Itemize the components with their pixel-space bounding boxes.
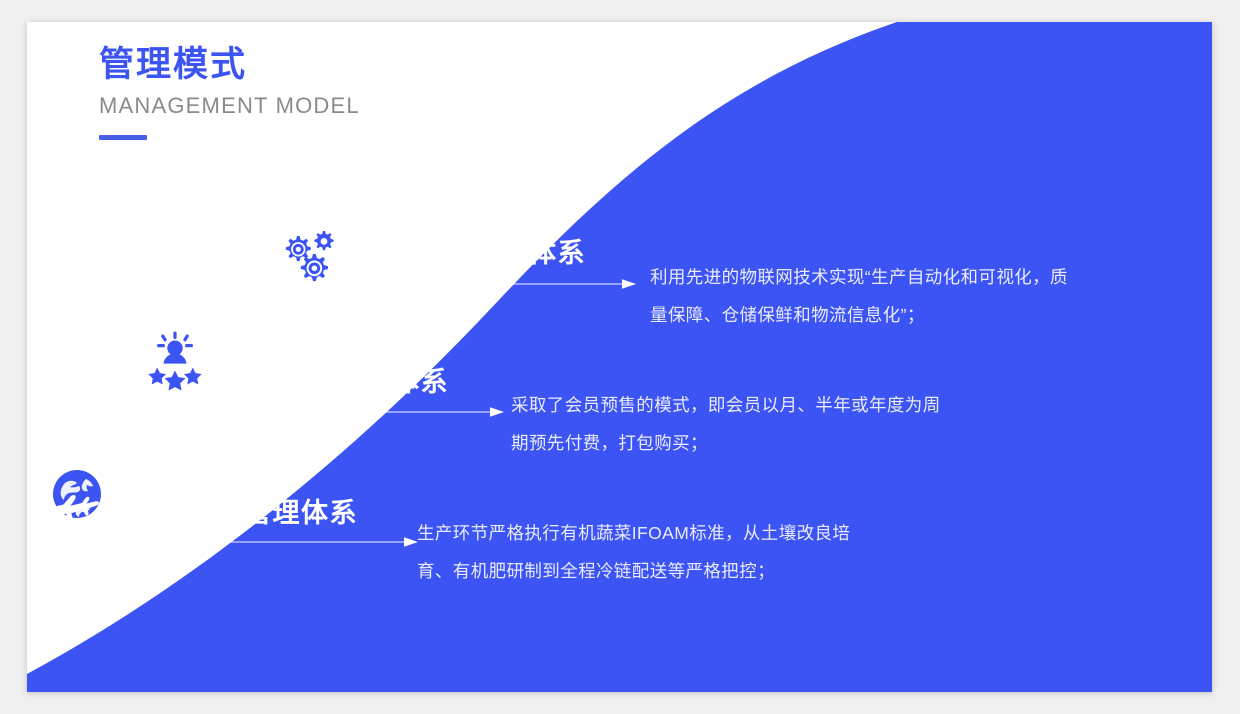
title-accent-bar xyxy=(99,135,147,140)
row-body-line: 量保障、仓储保鲜和物流信息化”； xyxy=(650,296,1068,334)
arrow-icon xyxy=(193,406,505,418)
gears-icon xyxy=(280,223,342,285)
row-body-text: 采取了会员预售的模式，即会员以月、半年或年度为周 期预先付费，打包购买； xyxy=(511,386,941,462)
arrow-icon xyxy=(99,536,419,548)
row-body-line: 育、有机肥研制到全程冷链配送等严格把控； xyxy=(417,552,850,590)
row-body-line: 期预先付费，打包购买； xyxy=(511,424,941,462)
page-title-cn: 管理模式 xyxy=(99,45,360,85)
globe-airplane-icon xyxy=(45,465,107,527)
page-title-en: MANAGEMENT MODEL xyxy=(99,94,360,118)
row-body-line: 采取了会员预售的模式，即会员以月、半年或年度为周 xyxy=(511,386,941,424)
slide-canvas: 管理模式 MANAGEMENT MODEL 质 xyxy=(27,22,1212,692)
row-body-line: 生产环节严格执行有机蔬菜IFOAM标准，从土壤改良培 xyxy=(417,514,850,552)
row-body-text: 生产环节严格执行有机蔬菜IFOAM标准，从土壤改良培 育、有机肥研制到全程冷链配… xyxy=(417,514,850,590)
title-block: 管理模式 MANAGEMENT MODEL xyxy=(99,45,360,140)
row-body-line: 利用先进的物联网技术实现“生产自动化和可视化，质 xyxy=(650,258,1068,296)
customer-stars-icon xyxy=(144,329,206,391)
row-heading: 客户管理体系 xyxy=(278,369,449,396)
row-heading: 质量管理体系 xyxy=(415,240,586,267)
arrow-icon xyxy=(332,278,637,290)
row-heading: 物流管理体系 xyxy=(187,500,358,527)
row-body-text: 利用先进的物联网技术实现“生产自动化和可视化，质 量保障、仓储保鲜和物流信息化”… xyxy=(650,258,1068,334)
